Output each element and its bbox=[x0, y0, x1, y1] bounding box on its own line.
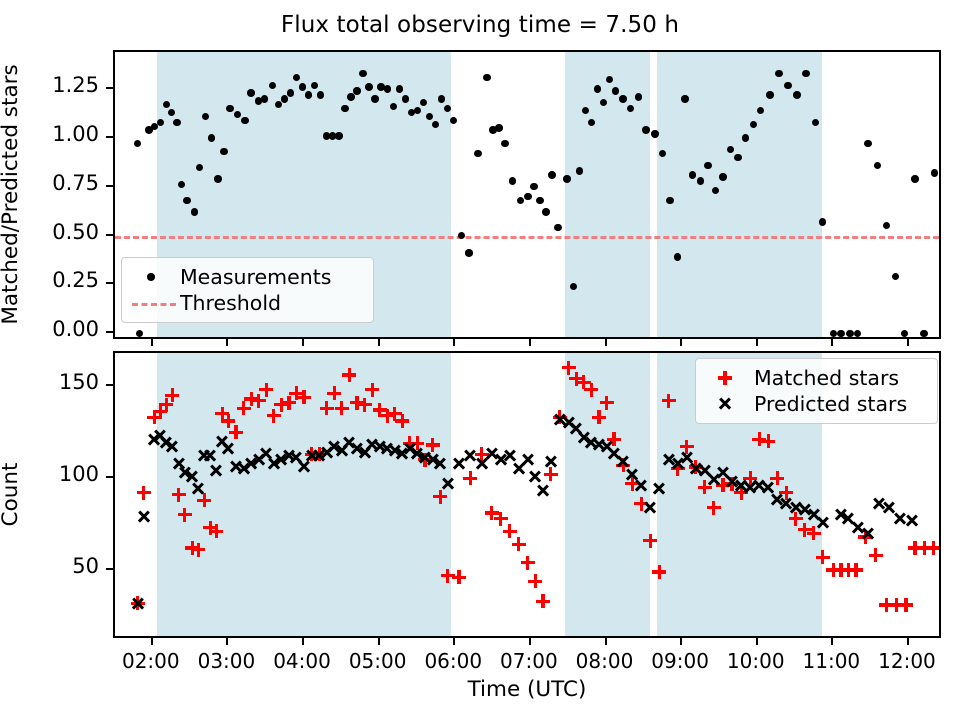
y-tick-bottom-tick bbox=[106, 476, 113, 478]
x-tick-bottom bbox=[831, 638, 833, 645]
data-point bbox=[173, 119, 180, 126]
x-tick-bottom bbox=[453, 638, 455, 645]
measurements-dot-icon bbox=[130, 264, 180, 290]
y-tick-bottom-label: 150 bbox=[21, 370, 99, 394]
data-point bbox=[576, 167, 583, 174]
data-point bbox=[920, 330, 927, 337]
x-tick-top bbox=[302, 339, 304, 346]
data-point bbox=[396, 85, 403, 92]
data-point bbox=[247, 89, 254, 96]
data-point bbox=[530, 183, 537, 190]
data-point bbox=[317, 91, 324, 98]
legend-label-threshold: Threshold bbox=[180, 291, 281, 315]
x-tick-bottom bbox=[226, 638, 228, 645]
data-point bbox=[681, 95, 688, 102]
x-tick-top bbox=[680, 339, 682, 346]
data-point bbox=[830, 330, 837, 337]
data-point bbox=[901, 330, 908, 337]
x-tick-bottom bbox=[378, 638, 380, 645]
data-point bbox=[509, 177, 516, 184]
data-point bbox=[157, 119, 164, 126]
data-point bbox=[524, 193, 531, 200]
y-tick-bottom-tick bbox=[106, 384, 113, 386]
data-point bbox=[750, 121, 757, 128]
data-point bbox=[341, 105, 348, 112]
data-point bbox=[465, 249, 472, 256]
x-tick-top bbox=[756, 339, 758, 346]
data-point bbox=[812, 119, 819, 126]
legend-item-matched-stars[interactable]: Matched stars bbox=[704, 365, 927, 391]
y-tick-top-label: 0.75 bbox=[21, 171, 99, 195]
top-panel-legend: Measurements Threshold bbox=[121, 257, 374, 323]
data-point bbox=[214, 175, 221, 182]
data-point bbox=[517, 197, 524, 204]
y-tick-top-tick bbox=[106, 234, 113, 236]
data-point bbox=[642, 126, 649, 133]
y-tick-top-tick bbox=[106, 331, 113, 333]
data-point bbox=[594, 85, 601, 92]
x-tick-bottom bbox=[151, 638, 153, 645]
x-tick-top bbox=[605, 339, 607, 346]
x-tick-bottom bbox=[605, 638, 607, 645]
y-tick-top-tick bbox=[106, 87, 113, 89]
data-point bbox=[402, 95, 409, 102]
data-point bbox=[450, 117, 457, 124]
data-point bbox=[241, 117, 248, 124]
data-point bbox=[619, 95, 626, 102]
data-point bbox=[501, 140, 508, 147]
x-tick-bottom bbox=[529, 638, 531, 645]
data-point bbox=[183, 197, 190, 204]
data-point bbox=[281, 95, 288, 102]
x-tick-top bbox=[907, 339, 909, 346]
y-tick-top-tick bbox=[106, 185, 113, 187]
data-point bbox=[846, 330, 853, 337]
data-point bbox=[666, 197, 673, 204]
x-tick-top bbox=[151, 339, 153, 346]
data-point bbox=[365, 83, 372, 90]
data-point bbox=[892, 273, 899, 280]
data-point bbox=[191, 208, 198, 215]
data-point bbox=[136, 330, 143, 337]
data-point bbox=[766, 91, 773, 98]
data-point bbox=[570, 283, 577, 290]
data-point bbox=[371, 95, 378, 102]
x-tick-bottom bbox=[907, 638, 909, 645]
x-tick-top bbox=[529, 339, 531, 346]
threshold-line bbox=[115, 236, 939, 239]
threshold-dash-icon bbox=[130, 290, 180, 316]
data-point bbox=[347, 93, 354, 100]
data-point bbox=[588, 119, 595, 126]
y-tick-bottom-tick bbox=[106, 568, 113, 570]
data-point bbox=[854, 330, 861, 337]
data-point bbox=[483, 74, 490, 81]
data-point bbox=[554, 224, 561, 231]
data-point bbox=[651, 130, 658, 137]
data-point bbox=[802, 70, 809, 77]
y-tick-top-tick bbox=[106, 136, 113, 138]
data-point bbox=[287, 89, 294, 96]
x-tick-top bbox=[453, 339, 455, 346]
data-point bbox=[384, 85, 391, 92]
data-point bbox=[261, 95, 268, 102]
data-point bbox=[784, 82, 791, 89]
legend-item-measurements[interactable]: Measurements bbox=[130, 264, 363, 290]
y-tick-top-label: 0.50 bbox=[21, 220, 99, 244]
data-point bbox=[226, 105, 233, 112]
data-point bbox=[864, 140, 871, 147]
legend-label-predicted-stars: Predicted stars bbox=[754, 392, 907, 416]
data-point bbox=[134, 140, 141, 147]
data-point bbox=[911, 175, 918, 182]
data-point bbox=[299, 83, 306, 90]
legend-label-measurements: Measurements bbox=[180, 265, 331, 289]
data-point bbox=[742, 134, 749, 141]
y-tick-top-label: 1.25 bbox=[21, 73, 99, 97]
matched-plus-icon bbox=[704, 365, 754, 391]
data-point bbox=[563, 175, 570, 182]
x-tick-label: 12:00 bbox=[857, 649, 957, 673]
data-point bbox=[542, 208, 549, 215]
data-point bbox=[775, 70, 782, 77]
legend-item-predicted-stars[interactable]: Predicted stars bbox=[704, 391, 927, 417]
data-point bbox=[704, 162, 711, 169]
data-point bbox=[335, 132, 342, 139]
data-point bbox=[495, 124, 502, 131]
legend-label-matched-stars: Matched stars bbox=[754, 366, 899, 390]
data-point bbox=[220, 148, 227, 155]
x-axis-label: Time (UTC) bbox=[113, 677, 941, 702]
data-point bbox=[874, 162, 881, 169]
data-point bbox=[819, 218, 826, 225]
data-point bbox=[269, 82, 276, 89]
data-point bbox=[931, 169, 938, 176]
x-tick-bottom bbox=[680, 638, 682, 645]
data-point bbox=[612, 87, 619, 94]
data-point bbox=[719, 173, 726, 180]
x-tick-bottom bbox=[756, 638, 758, 645]
y-tick-top-label: 0.25 bbox=[21, 268, 99, 292]
data-point bbox=[536, 197, 543, 204]
data-point bbox=[883, 222, 890, 229]
data-point bbox=[697, 177, 704, 184]
x-tick-top bbox=[226, 339, 228, 346]
y-tick-top-label: 0.00 bbox=[21, 317, 99, 341]
data-point bbox=[793, 91, 800, 98]
data-point bbox=[353, 87, 360, 94]
data-point bbox=[734, 154, 741, 161]
top-panel-ylabel: Matched/Predicted stars bbox=[0, 50, 23, 339]
data-point bbox=[359, 70, 366, 77]
data-point bbox=[548, 171, 555, 178]
data-point bbox=[674, 253, 681, 260]
x-tick-top bbox=[831, 339, 833, 346]
data-point bbox=[305, 91, 312, 98]
data-point bbox=[474, 150, 481, 157]
bottom-panel-ylabel: Count bbox=[0, 351, 23, 638]
x-tick-top bbox=[378, 339, 380, 346]
y-tick-top-label: 1.00 bbox=[21, 122, 99, 146]
data-point bbox=[837, 330, 844, 337]
figure-root: Flux total observing time = 7.50 h Match… bbox=[0, 0, 960, 720]
y-tick-top-tick bbox=[106, 282, 113, 284]
bottom-panel-legend: Matched stars Predicted stars bbox=[695, 358, 938, 424]
predicted-cross-icon bbox=[704, 391, 754, 417]
x-tick-bottom bbox=[302, 638, 304, 645]
page-title: Flux total observing time = 7.50 h bbox=[0, 12, 960, 38]
data-point bbox=[438, 95, 445, 102]
data-point bbox=[635, 93, 642, 100]
y-tick-bottom-label: 100 bbox=[21, 462, 99, 486]
y-tick-bottom-label: 50 bbox=[21, 554, 99, 578]
legend-item-threshold[interactable]: Threshold bbox=[130, 290, 363, 316]
